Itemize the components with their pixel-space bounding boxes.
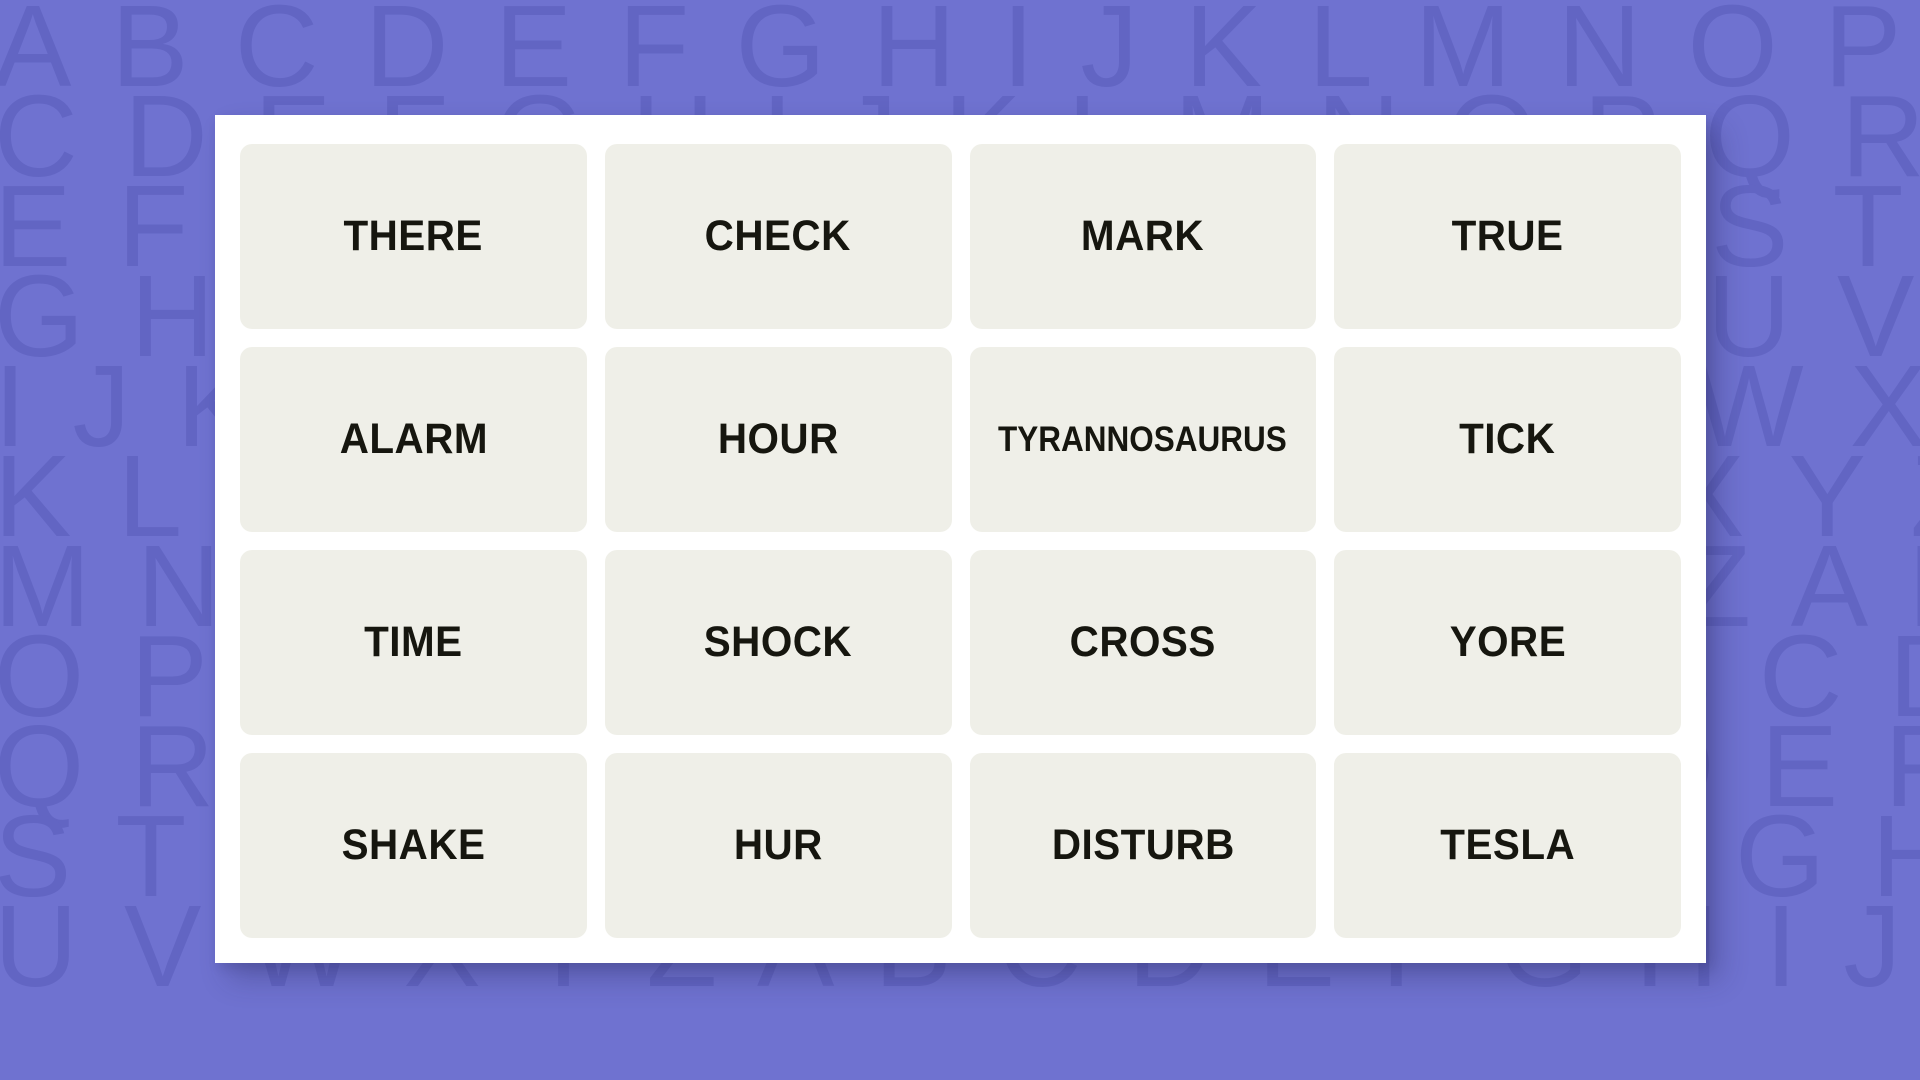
word-tile-label: TRUE <box>1452 215 1564 258</box>
word-tile-label: SHOCK <box>704 621 852 664</box>
word-tile[interactable]: HOUR <box>605 347 952 532</box>
word-tile-label: ALARM <box>339 418 487 461</box>
word-tile[interactable]: TYRANNOSAURUS <box>970 347 1317 532</box>
word-tile[interactable]: THERE <box>240 144 587 329</box>
word-tile-label: TESLA <box>1440 824 1575 867</box>
word-tile-label: SHAKE <box>341 824 485 867</box>
word-tile-label: DISTURB <box>1051 824 1234 867</box>
word-tile-label: TIME <box>364 621 462 664</box>
word-tile-label: TYRANNOSAURUS <box>998 422 1287 457</box>
word-tile-label: TICK <box>1460 418 1556 461</box>
word-tile-label: CROSS <box>1070 621 1216 664</box>
word-tile[interactable]: TICK <box>1334 347 1681 532</box>
word-tile[interactable]: TRUE <box>1334 144 1681 329</box>
word-tile[interactable]: SHOCK <box>605 550 952 735</box>
word-tile[interactable]: CHECK <box>605 144 952 329</box>
word-tile[interactable]: DISTURB <box>970 753 1317 938</box>
word-tile[interactable]: ALARM <box>240 347 587 532</box>
word-tile[interactable]: TESLA <box>1334 753 1681 938</box>
word-tile[interactable]: MARK <box>970 144 1317 329</box>
word-tile[interactable]: CROSS <box>970 550 1317 735</box>
word-tile[interactable]: TIME <box>240 550 587 735</box>
word-tile-grid: THERECHECKMARKTRUEALARMHOURTYRANNOSAURUS… <box>240 144 1681 938</box>
word-tile[interactable]: HUR <box>605 753 952 938</box>
background-letter-row: A B C D E F G H I J K L M N O P Q R S T … <box>0 0 1920 104</box>
word-tile[interactable]: YORE <box>1334 550 1681 735</box>
word-tile-label: HUR <box>734 824 823 867</box>
word-tile-label: THERE <box>344 215 483 258</box>
word-tile-label: YORE <box>1449 621 1565 664</box>
word-tile-label: CHECK <box>705 215 851 258</box>
word-tile[interactable]: SHAKE <box>240 753 587 938</box>
word-board-card: THERECHECKMARKTRUEALARMHOURTYRANNOSAURUS… <box>215 115 1706 963</box>
word-tile-label: MARK <box>1081 215 1204 258</box>
word-tile-label: HOUR <box>718 418 839 461</box>
